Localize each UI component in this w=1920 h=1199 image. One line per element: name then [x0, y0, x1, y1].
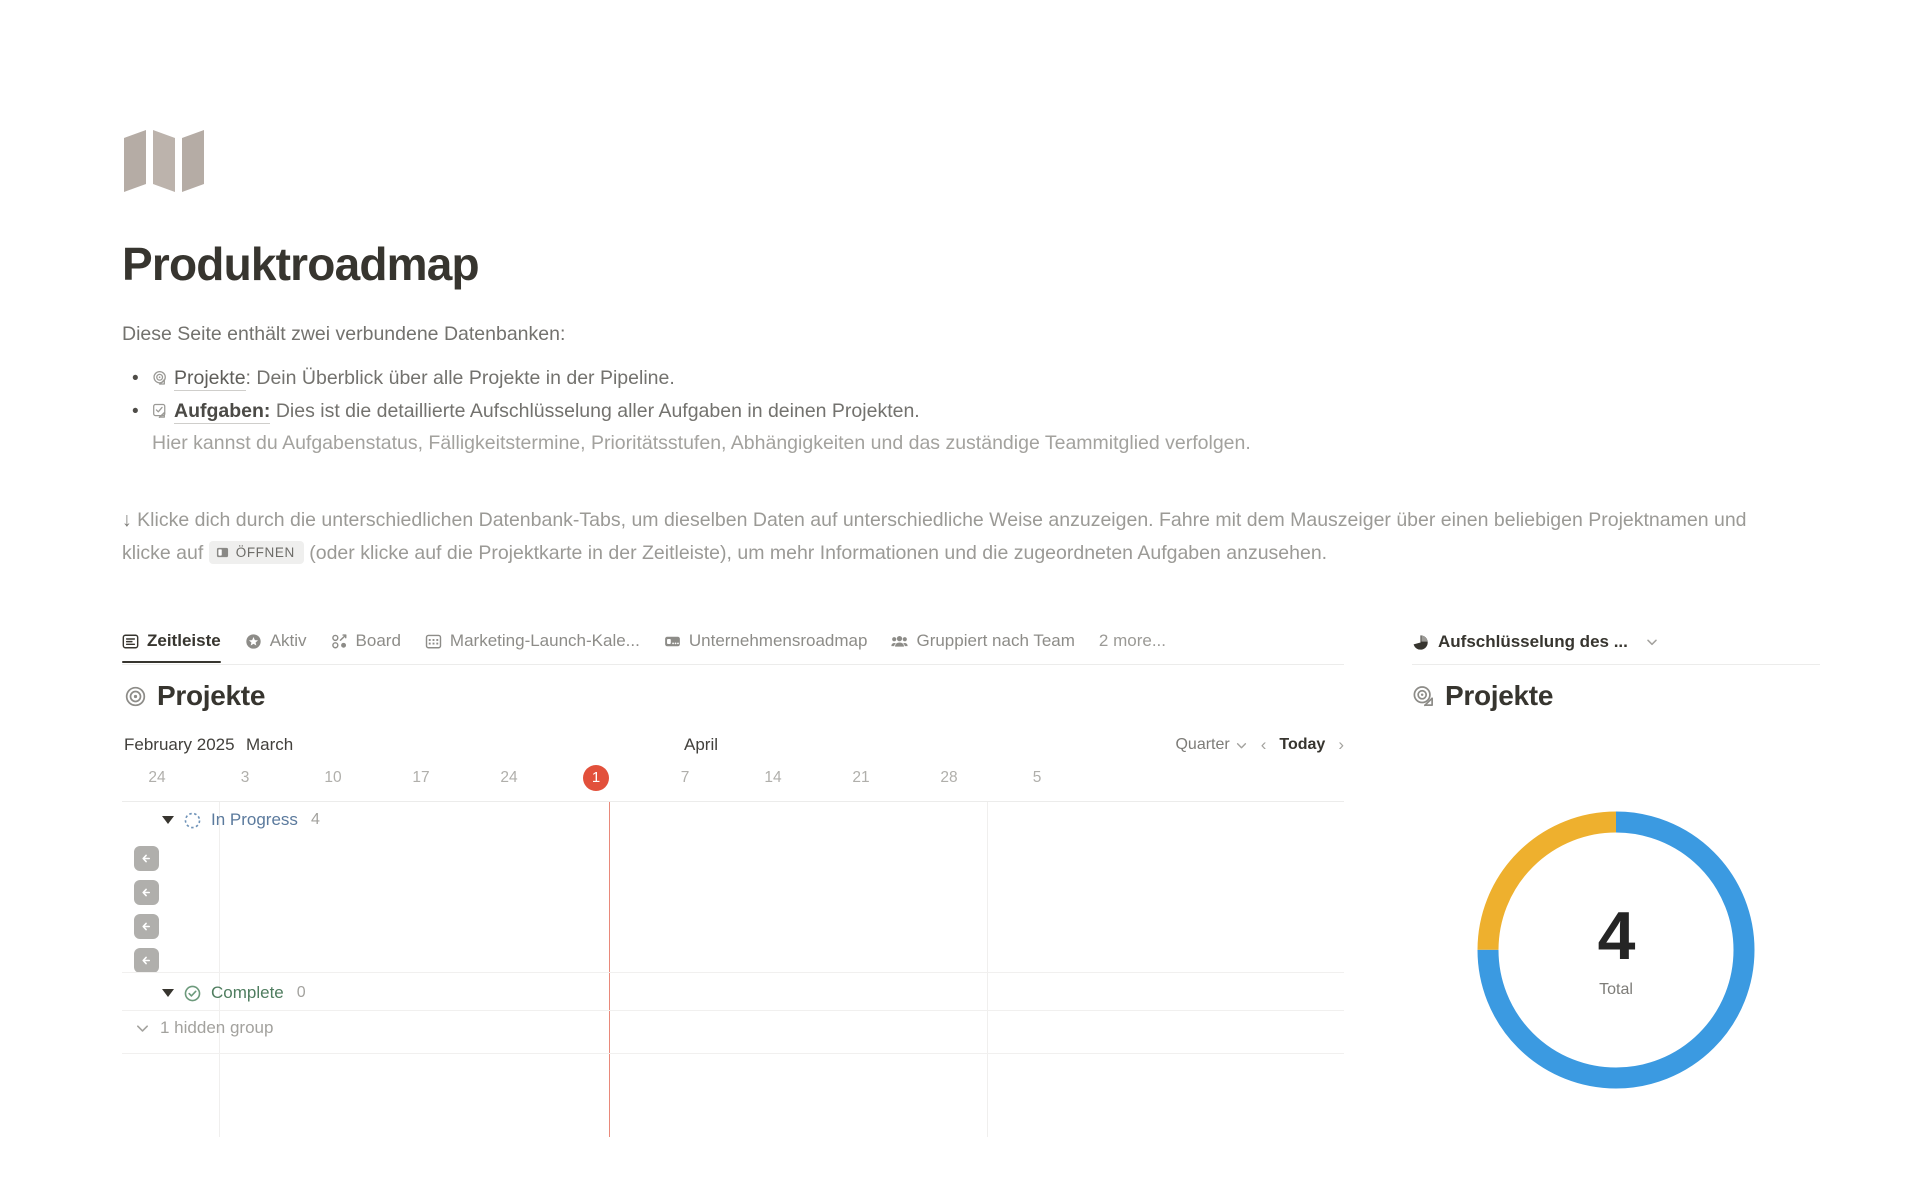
tab-unternehmensroadmap[interactable]: Unternehmensroadmap: [664, 620, 868, 662]
page-content: Produktroadmap Diese Seite enthält zwei …: [122, 0, 1822, 570]
board-icon: [331, 633, 348, 650]
tabs-more-button[interactable]: 2 more...: [1099, 620, 1166, 662]
day-tick: 17: [412, 769, 429, 787]
timeline-grid: In Progress 4: [122, 801, 1344, 1137]
day-tick-today: 1: [583, 765, 609, 791]
timeline-range-label: Quarter: [1175, 736, 1229, 754]
tab-marketing-label: Marketing-Launch-Kale...: [450, 631, 640, 651]
howto-paragraph: ↓ Klicke dich durch die unterschiedliche…: [122, 504, 1782, 570]
row-separator: [122, 1010, 1344, 1011]
intro-text: Diese Seite enthält zwei verbundene Date…: [122, 320, 1822, 348]
day-tick: 7: [681, 769, 690, 787]
group-count: 0: [297, 984, 306, 1002]
pie-chart-icon: [1412, 634, 1429, 651]
bullet-1-subtext: Hier kannst du Aufgabenstatus, Fälligkei…: [152, 428, 1822, 458]
projects-breakdown-chart: 4 Total: [1412, 760, 1820, 1140]
people-icon: [891, 633, 908, 650]
timeline-view: February 2025 March April Quarter ‹ Toda…: [122, 735, 1344, 1135]
timeline-controls: Quarter ‹ Today ›: [1175, 735, 1344, 755]
timeline-topbar: February 2025 March April Quarter ‹ Toda…: [122, 735, 1344, 769]
tab-gruppiert-label: Gruppiert nach Team: [916, 631, 1074, 651]
database-list: Projekte: Dein Überblick über alle Proje…: [122, 362, 1822, 458]
tab-board-label: Board: [356, 631, 401, 651]
left-section-heading: Projekte: [124, 680, 265, 712]
tab-unternehmensroadmap-label: Unternehmensroadmap: [689, 631, 868, 651]
day-tick: 28: [940, 769, 957, 787]
tab-aktiv[interactable]: Aktiv: [245, 620, 307, 662]
timeline-day-axis: 24 3 10 17 24 31 1 7 14 21 28 5: [122, 769, 1344, 801]
today-marker-line: [609, 802, 610, 1137]
map-icon: [122, 128, 210, 194]
tab-aktiv-label: Aktiv: [270, 631, 307, 651]
page-title: Produktroadmap: [122, 236, 1822, 292]
tab-board[interactable]: Board: [331, 620, 401, 662]
arrow-left-icon: [139, 885, 154, 900]
open-chip[interactable]: ÖFFNEN: [209, 541, 304, 564]
target-link-icon: [152, 370, 169, 387]
timeline-group-complete[interactable]: Complete 0: [122, 975, 1344, 1011]
caret-down-icon[interactable]: [162, 816, 174, 824]
arrow-left-icon: [139, 953, 154, 968]
day-tick: 14: [764, 769, 781, 787]
timeline-today-button[interactable]: Today: [1279, 736, 1325, 754]
grid-line: [219, 802, 220, 1137]
day-tick: 10: [324, 769, 341, 787]
chevron-down-icon[interactable]: [1645, 635, 1659, 649]
calendar-icon: [425, 633, 442, 650]
list-item-aufgaben: Aufgaben: Dies ist die detaillierte Aufs…: [122, 395, 1822, 458]
tab-zeitleiste[interactable]: Zeitleiste: [122, 620, 221, 662]
grid-line: [987, 802, 988, 1137]
day-tick: 5: [1033, 769, 1042, 787]
tab-marketing-launch-kalender[interactable]: Marketing-Launch-Kale...: [425, 620, 640, 662]
list-item-projekte: Projekte: Dein Überblick über alle Proje…: [122, 362, 1822, 395]
donut-center: 4 Total: [1466, 800, 1766, 1100]
task-link-icon: [152, 403, 169, 420]
right-section-title: Projekte: [1445, 680, 1553, 712]
tab-zeitleiste-label: Zeitleiste: [147, 631, 221, 651]
dashed-circle-icon: [183, 811, 202, 830]
timeline-next-button[interactable]: ›: [1338, 735, 1344, 755]
row-separator: [122, 972, 1344, 973]
check-circle-icon: [183, 984, 202, 1003]
arrow-left-icon: [139, 919, 154, 934]
day-tick: 3: [241, 769, 250, 787]
panel-icon: [216, 546, 229, 559]
timeline-group-in-progress[interactable]: In Progress 4: [122, 802, 1344, 838]
link-aufgaben[interactable]: Aufgaben:: [174, 400, 270, 424]
offscreen-item-chip[interactable]: [134, 948, 159, 973]
arrow-down-icon: ↓: [122, 509, 132, 531]
hidden-group-label: 1 hidden group: [160, 1018, 273, 1038]
day-tick: 24: [500, 769, 517, 787]
group-label: In Progress: [211, 810, 298, 830]
database-tabbar: Zeitleiste Aktiv Board: [122, 620, 1344, 665]
target-link-icon: [1412, 685, 1435, 708]
hidden-group-toggle[interactable]: 1 hidden group: [134, 1018, 273, 1038]
caret-down-icon[interactable]: [162, 989, 174, 997]
link-projekte[interactable]: Projekte: [174, 367, 246, 391]
timeline-range-select[interactable]: Quarter: [1175, 736, 1247, 754]
arrow-left-icon: [139, 851, 154, 866]
offscreen-item-chip[interactable]: [134, 846, 159, 871]
donut-total-value: 4: [1598, 901, 1635, 971]
timeline-prev-button[interactable]: ‹: [1261, 735, 1267, 755]
timeline-month-0: February 2025: [124, 735, 235, 755]
panel-tabbar: Aufschlüsselung des ...: [1412, 620, 1820, 665]
donut-total-label: Total: [1599, 981, 1633, 999]
page-root: Produktroadmap Diese Seite enthält zwei …: [0, 0, 1920, 1199]
chevron-down-icon: [1235, 739, 1248, 752]
timeline-icon: [122, 633, 139, 650]
bullet-1-rest: Dies ist die detaillierte Aufschlüsselun…: [270, 400, 919, 422]
tab-gruppiert-nach-team[interactable]: Gruppiert nach Team: [891, 620, 1074, 662]
howto-part2: (oder klicke auf die Projektkarte in der…: [309, 542, 1327, 564]
row-separator: [122, 1053, 1344, 1054]
offscreen-item-chip[interactable]: [134, 880, 159, 905]
group-label: Complete: [211, 983, 284, 1003]
timeline-month-1: March: [246, 735, 293, 755]
star-icon: [245, 633, 262, 650]
bullet-0-rest: : Dein Überblick über alle Projekte in d…: [246, 367, 675, 389]
gallery-icon: [664, 633, 681, 650]
right-section-heading: Projekte: [1412, 680, 1553, 712]
offscreen-item-chip[interactable]: [134, 914, 159, 939]
group-count: 4: [311, 811, 320, 829]
day-tick: 21: [852, 769, 869, 787]
target-icon: [124, 685, 147, 708]
left-section-title: Projekte: [157, 680, 265, 712]
day-tick: 24: [148, 769, 165, 787]
chevron-down-icon: [134, 1020, 151, 1037]
panel-tab-label[interactable]: Aufschlüsselung des ...: [1438, 632, 1628, 652]
open-chip-label: ÖFFNEN: [236, 545, 295, 560]
timeline-month-2: April: [684, 735, 718, 755]
